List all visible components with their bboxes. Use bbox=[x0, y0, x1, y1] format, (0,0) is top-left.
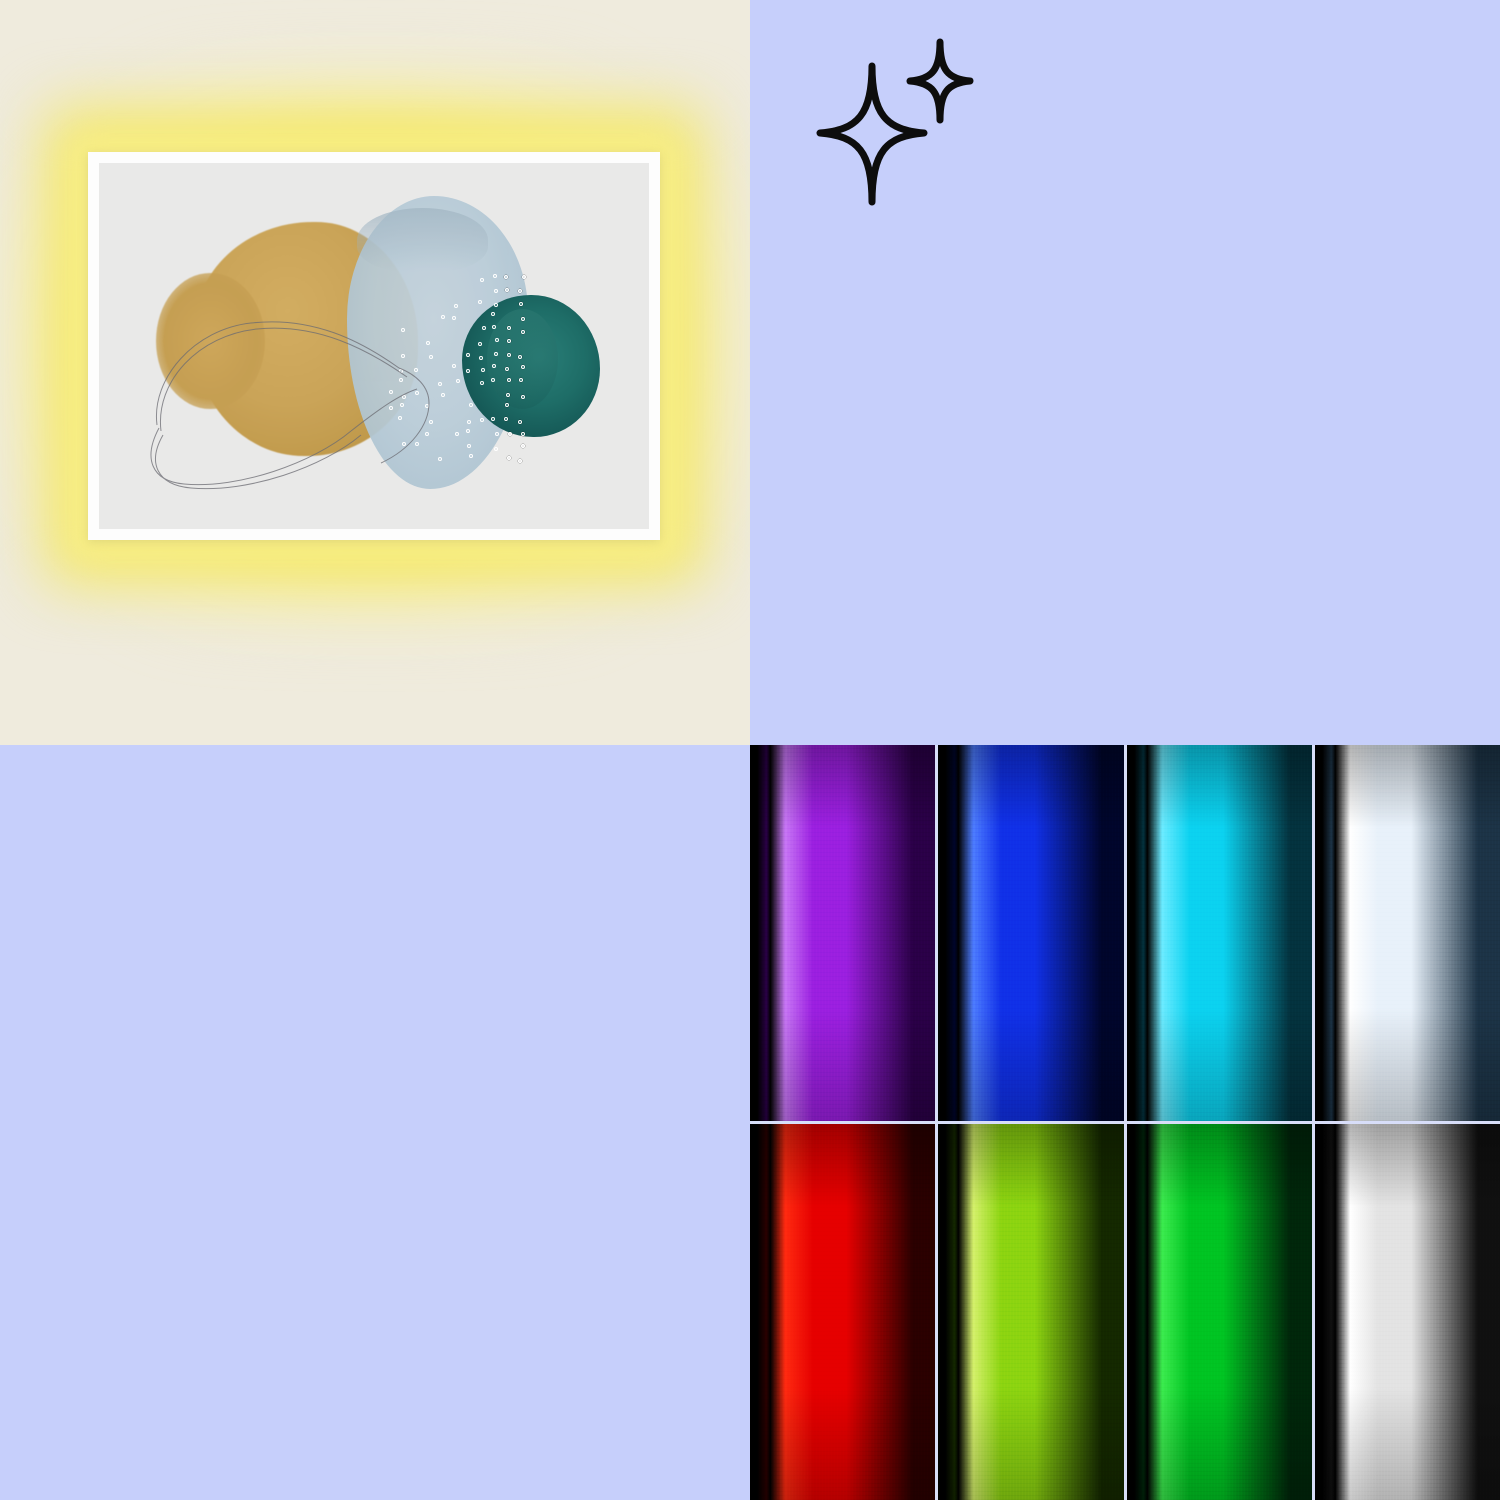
rgb-swatch-warm-white[interactable] bbox=[1315, 1124, 1500, 1500]
rgb-swatch-cool-white[interactable] bbox=[1315, 745, 1500, 1121]
surface-grain bbox=[1315, 745, 1500, 1121]
rgb-swatch-cyan[interactable] bbox=[1127, 745, 1312, 1121]
rgb-swatch-lime[interactable] bbox=[938, 1124, 1123, 1500]
surface-grain bbox=[750, 1124, 935, 1500]
surface-grain bbox=[1315, 1124, 1500, 1500]
surface-grain bbox=[938, 745, 1123, 1121]
rgb-swatch-green[interactable] bbox=[1127, 1124, 1312, 1500]
rgb-color-grid bbox=[750, 745, 1500, 1500]
artwork-canvas bbox=[99, 163, 649, 529]
wow-effect-panel: WOW EFFECT Front with design surface bbox=[750, 0, 1500, 745]
surface-grain bbox=[1127, 1124, 1312, 1500]
product-photo-panel bbox=[0, 0, 750, 745]
surface-grain bbox=[938, 1124, 1123, 1500]
sparkle-icon bbox=[814, 32, 984, 227]
atmospheric-panel: ATMOSPHERIC Dimmable RGB backlighting fo… bbox=[0, 745, 750, 1500]
picture-frame bbox=[88, 152, 660, 540]
product-feature-infographic: WOW EFFECT Front with design surface bbox=[0, 0, 1500, 1500]
rgb-swatch-blue[interactable] bbox=[938, 745, 1123, 1121]
surface-grain bbox=[750, 745, 935, 1121]
artwork-line-scribble bbox=[99, 163, 649, 529]
surface-grain bbox=[1127, 745, 1312, 1121]
rgb-swatch-violet[interactable] bbox=[750, 745, 935, 1121]
rgb-swatch-red[interactable] bbox=[750, 1124, 935, 1500]
